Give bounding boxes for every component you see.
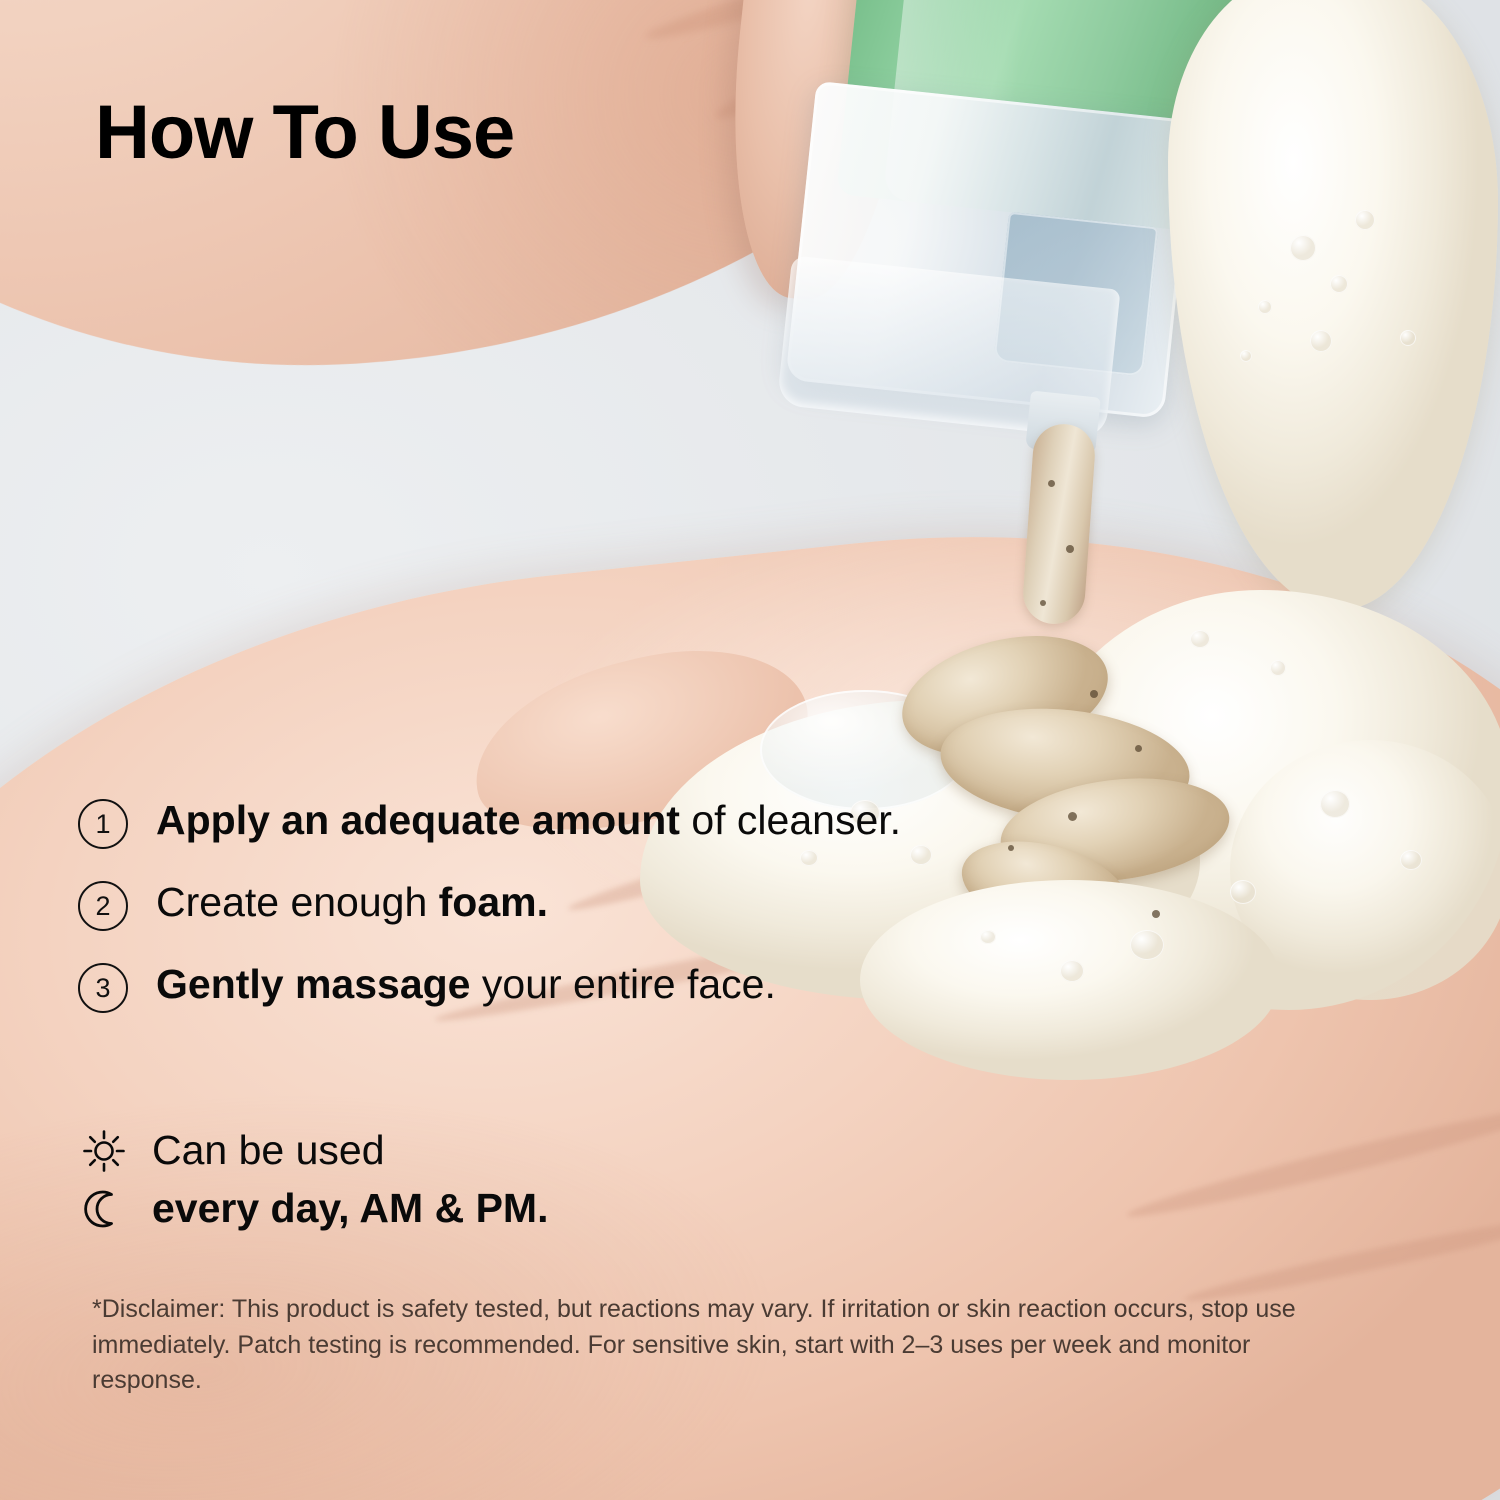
step-number-badge: 2 [78,881,128,931]
usage-frequency: Can be used every day, AM & PM. [78,1122,838,1238]
step-text-rest: of cleanser. [680,797,901,843]
step-text-bold: Apply an adequate amount [156,797,680,843]
list-item: 2 Create enough foam. [78,877,978,931]
usage-text-line2: every day, AM & PM. [152,1186,548,1231]
list-item: 3 Gently massage your entire face. [78,959,978,1013]
sun-icon [78,1125,130,1177]
disclaimer-text: *Disclaimer: This product is safety test… [92,1292,1342,1399]
step-text: Gently massage your entire face. [156,959,776,1009]
content-overlay: How To Use 1 Apply an adequate amount of… [0,0,1500,1500]
step-text-bold: Gently massage [156,961,471,1007]
usage-text-bold: every day, AM & PM. [152,1185,548,1231]
how-to-use-panel: How To Use 1 Apply an adequate amount of… [0,0,1500,1500]
page-title: How To Use [95,95,514,171]
step-text: Create enough foam. [156,877,548,927]
usage-row-am: Can be used [78,1122,838,1180]
step-text: Apply an adequate amount of cleanser. [156,795,901,845]
usage-row-pm: every day, AM & PM. [78,1180,838,1238]
step-text-lead: Create enough [156,879,439,925]
step-number-badge: 3 [78,963,128,1013]
list-item: 1 Apply an adequate amount of cleanser. [78,795,978,849]
step-text-bold: foam. [439,879,548,925]
step-text-rest: your entire face. [471,961,776,1007]
steps-list: 1 Apply an adequate amount of cleanser. … [78,795,978,1041]
moon-icon [78,1183,130,1235]
usage-text-line1: Can be used [152,1128,385,1173]
step-number-badge: 1 [78,799,128,849]
